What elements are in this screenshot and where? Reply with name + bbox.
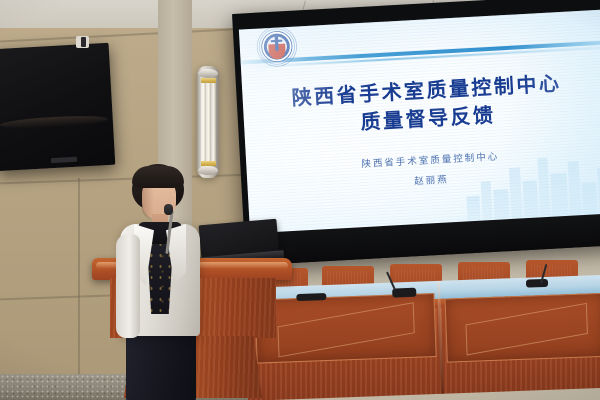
conference-room-photo: 陕西省手术室质量控制中心 质量督导反馈 陕西省手术室质量控制中心 赵丽燕 bbox=[0, 0, 600, 400]
conference-table bbox=[244, 275, 600, 400]
presentation-slide: 陕西省手术室质量控制中心 质量督导反馈 陕西省手术室质量控制中心 赵丽燕 bbox=[239, 9, 600, 234]
slide-glare-overlay bbox=[239, 9, 600, 234]
speaker-hair-fringe bbox=[132, 166, 184, 188]
wall-sconce-light bbox=[197, 66, 219, 178]
speaker-trousers bbox=[126, 332, 196, 400]
sconce-glass-tube bbox=[211, 79, 216, 165]
presenter-speaker bbox=[108, 164, 212, 400]
wall-mounted-television bbox=[0, 43, 115, 171]
table-decor-panel bbox=[445, 293, 600, 363]
projection-screen: 陕西省手术室质量控制中心 质量督导反馈 陕西省手术室质量控制中心 赵丽燕 bbox=[232, 0, 600, 266]
speaker-left-arm bbox=[116, 234, 140, 338]
table-decor-diamond bbox=[278, 302, 416, 357]
table-microphone bbox=[296, 293, 326, 301]
tv-logo-bar bbox=[51, 157, 77, 163]
table-microphone-base bbox=[526, 279, 548, 288]
speaker-microphone bbox=[164, 204, 173, 215]
sconce-top-ring bbox=[198, 69, 218, 78]
tv-screen-glare bbox=[0, 114, 108, 130]
wall-panel-seam bbox=[0, 27, 250, 42]
table-decor-diamond bbox=[465, 303, 587, 355]
tv-wall-mount-bracket bbox=[76, 36, 89, 48]
wall-panel-seam bbox=[78, 178, 80, 378]
sconce-brass-cap bbox=[211, 78, 216, 83]
